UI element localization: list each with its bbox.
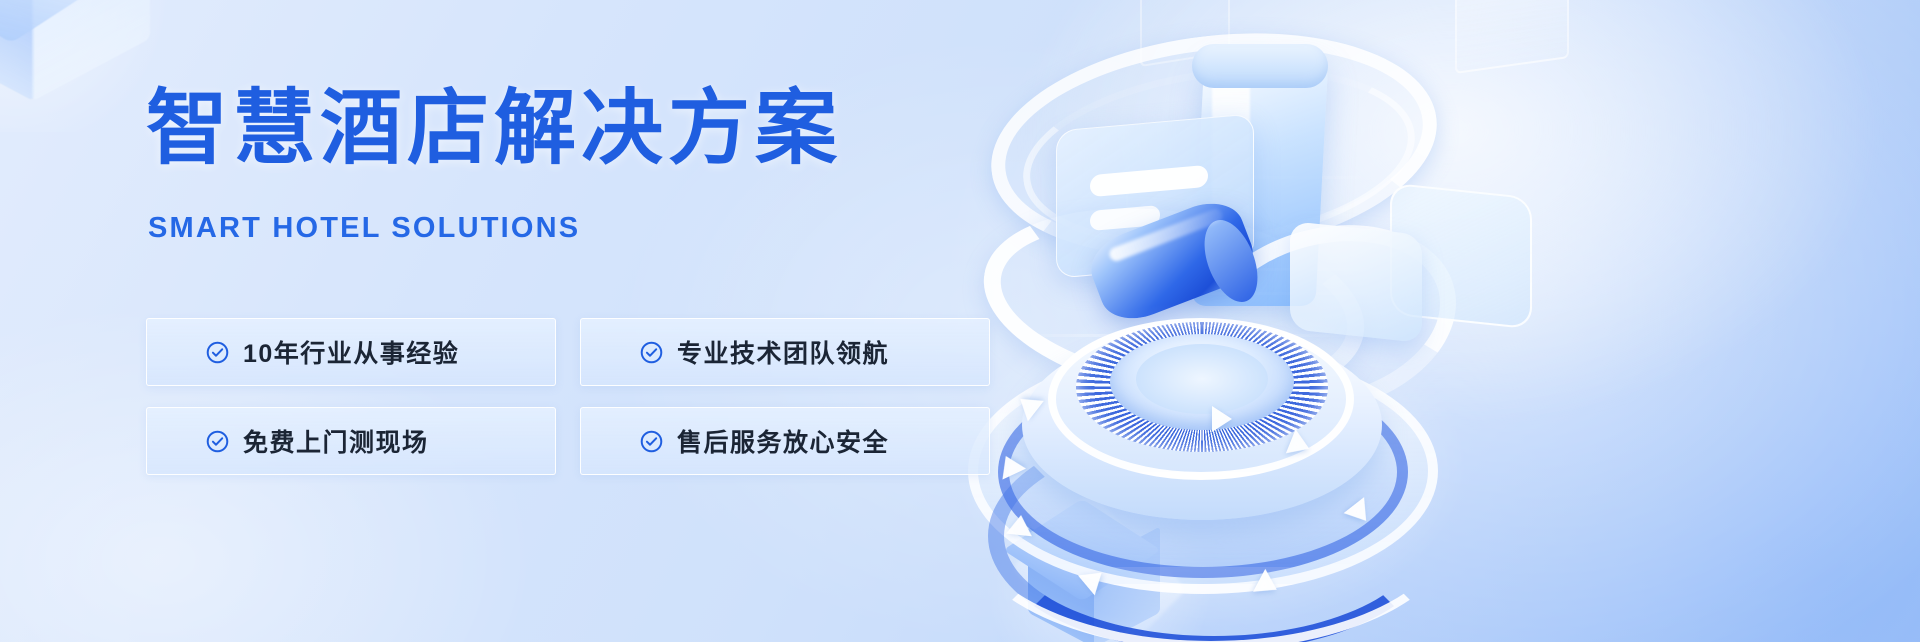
feature-badge: 10年行业从事经验 <box>146 318 556 386</box>
feature-badge: 售后服务放心安全 <box>580 407 990 475</box>
speed-line <box>1006 334 1366 337</box>
platform-glow <box>950 300 1470 630</box>
glow-top-right <box>1000 0 1900 440</box>
motion-chevron-icon <box>1212 406 1232 432</box>
platform-core <box>1110 334 1294 430</box>
message-bar <box>1090 165 1208 197</box>
turbine-blades <box>1076 322 1328 452</box>
feature-badge-label: 免费上门测现场 <box>243 423 429 459</box>
glass-cube-bottom-icon <box>1010 490 1190 642</box>
motion-chevron-icon <box>1286 429 1314 461</box>
platform-ring-5 <box>968 348 1438 594</box>
speed-line <box>1140 176 1370 179</box>
blue-cylinder-highlight <box>1107 207 1224 263</box>
feature-badge-label: 专业技术团队领航 <box>677 334 889 370</box>
orbit-ring-inner <box>1013 47 1425 268</box>
glass-sheet-highlight <box>1212 62 1250 292</box>
motion-chevron-icon <box>1006 514 1034 537</box>
page-title: 智慧酒店解决方案 <box>146 88 842 170</box>
curved-ribbon-right <box>1178 199 1476 439</box>
platform-ring-4 <box>998 366 1408 578</box>
platform-ring-3 <box>1022 330 1382 520</box>
smart-hotel-3d-illustration <box>960 0 1920 642</box>
banner-content: 智慧酒店解决方案 SMART HOTEL SOLUTIONS 10年行业从事经验 <box>0 0 960 642</box>
check-circle-icon <box>639 340 664 365</box>
message-bar <box>1090 205 1160 231</box>
message-card <box>1056 113 1254 278</box>
square-outline-decoration <box>1455 0 1569 74</box>
feature-badge: 免费上门测现场 <box>146 407 556 475</box>
check-circle-icon <box>205 429 230 454</box>
speed-line <box>1090 292 1390 295</box>
feature-badge-label: 10年行业从事经验 <box>243 334 459 370</box>
glass-scroll-sheet <box>1191 56 1328 306</box>
cube-outer-glass <box>1011 491 1187 642</box>
curved-ribbon-mid <box>970 183 1378 425</box>
smart-hotel-banner: 智慧酒店解决方案 SMART HOTEL SOLUTIONS 10年行业从事经验 <box>0 0 1920 642</box>
platform-blue-arc <box>988 420 1440 642</box>
glass-sheet-curl <box>1192 44 1328 88</box>
square-outline-decoration <box>1126 173 1270 247</box>
cube-face-left <box>1028 526 1094 642</box>
cube-face-right <box>1094 526 1160 642</box>
feature-badge: 专业技术团队领航 <box>580 318 990 386</box>
page-subtitle: SMART HOTEL SOLUTIONS <box>148 212 580 245</box>
motion-chevron-icon <box>1012 389 1044 422</box>
feature-badge-list: 10年行业从事经验 专业技术团队领航 免费上 <box>146 318 990 475</box>
square-outline-decoration <box>1140 0 1230 67</box>
speed-line <box>1062 366 1342 369</box>
platform-ring-2 <box>1048 318 1354 480</box>
cube-halo <box>974 460 1224 642</box>
motion-chevron-icon <box>1253 569 1283 601</box>
floating-panel-far <box>1390 183 1532 330</box>
check-circle-icon <box>639 429 664 454</box>
motion-chevron-icon <box>1078 563 1110 596</box>
check-circle-icon <box>205 340 230 365</box>
blue-cylinder-cap <box>1194 213 1268 310</box>
motion-chevron-icon <box>1344 497 1377 529</box>
orbit-ring-outer <box>978 10 1449 281</box>
speed-line <box>1098 412 1348 415</box>
platform-core-inner <box>1136 344 1268 414</box>
blue-cylinder <box>1082 192 1262 330</box>
feature-badge-label: 售后服务放心安全 <box>677 423 889 459</box>
motion-chevron-icon <box>994 450 1026 479</box>
speed-line <box>1050 268 1380 271</box>
floating-panel-near <box>1290 221 1422 343</box>
cube-face-top <box>1003 499 1161 601</box>
platform-white-arc <box>962 398 1460 642</box>
